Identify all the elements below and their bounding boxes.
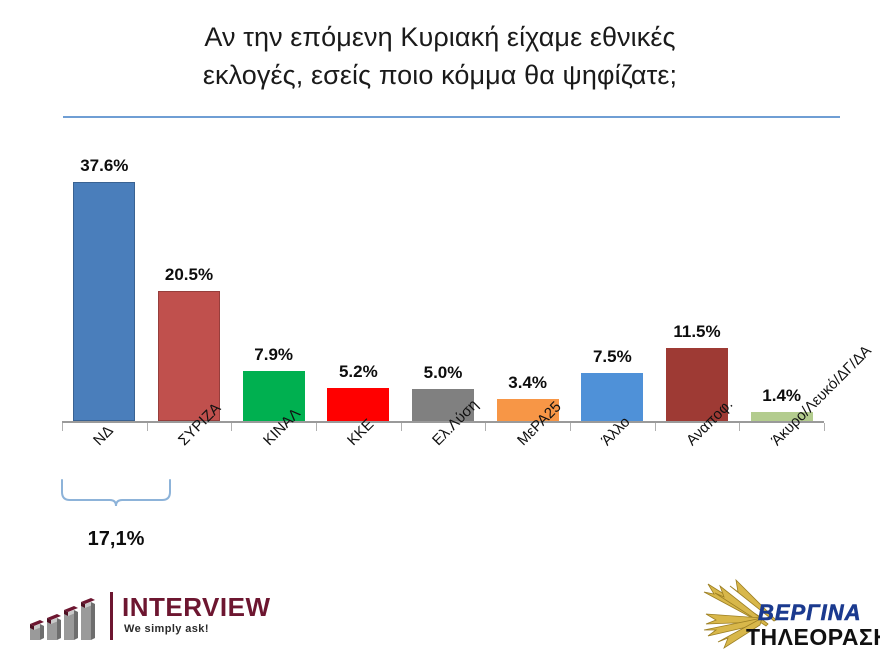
logo-divider — [110, 592, 113, 640]
x-axis-label-1: ΝΔ — [90, 422, 117, 449]
poll-slide: Αν την επόμενη Κυριακή είχαμε εθνικές εκ… — [0, 0, 880, 660]
bar-value-label: 3.4% — [478, 373, 578, 393]
x-axis-tick — [655, 423, 656, 431]
x-axis-tick — [739, 423, 740, 431]
bar-4[interactable] — [327, 388, 389, 421]
x-axis-tick — [401, 423, 402, 431]
vergina-tv-logo: ΒΕΡΓΙΝΑ ΤΗΛΕΟΡΑΣΗ — [700, 578, 870, 656]
x-axis-tick — [485, 423, 486, 431]
bar-1[interactable] — [73, 182, 135, 421]
difference-brace — [60, 478, 172, 512]
difference-value: 17,1% — [60, 528, 172, 551]
bar-chart-logo-icon — [26, 594, 104, 642]
interview-tagline: We simply ask! — [124, 623, 209, 635]
x-axis-tick — [570, 423, 571, 431]
bar-value-label: 11.5% — [647, 322, 747, 342]
x-axis-tick — [316, 423, 317, 431]
bar-value-label: 37.6% — [54, 156, 154, 176]
bar-value-label: 7.5% — [562, 347, 662, 367]
bar-7[interactable] — [581, 373, 643, 421]
brace-icon — [60, 478, 172, 512]
x-axis-tick — [824, 423, 825, 431]
x-axis-tick — [62, 423, 63, 431]
interview-logo: INTERVIEW We simply ask! — [26, 590, 246, 646]
vergina-wordmark: ΒΕΡΓΙΝΑ — [758, 600, 862, 626]
vergina-subtitle: ΤΗΛΕΟΡΑΣΗ — [746, 624, 880, 651]
bar-chart: 37.6%ΝΔ20.5%ΣΥΡΙΖΑ7.9%ΚΙΝΑΛ5.2%ΚΚΕ5.0%Ελ… — [0, 0, 880, 660]
x-axis-tick — [231, 423, 232, 431]
bar-value-label: 20.5% — [139, 265, 239, 285]
x-axis-tick — [147, 423, 148, 431]
interview-wordmark: INTERVIEW — [122, 592, 270, 622]
